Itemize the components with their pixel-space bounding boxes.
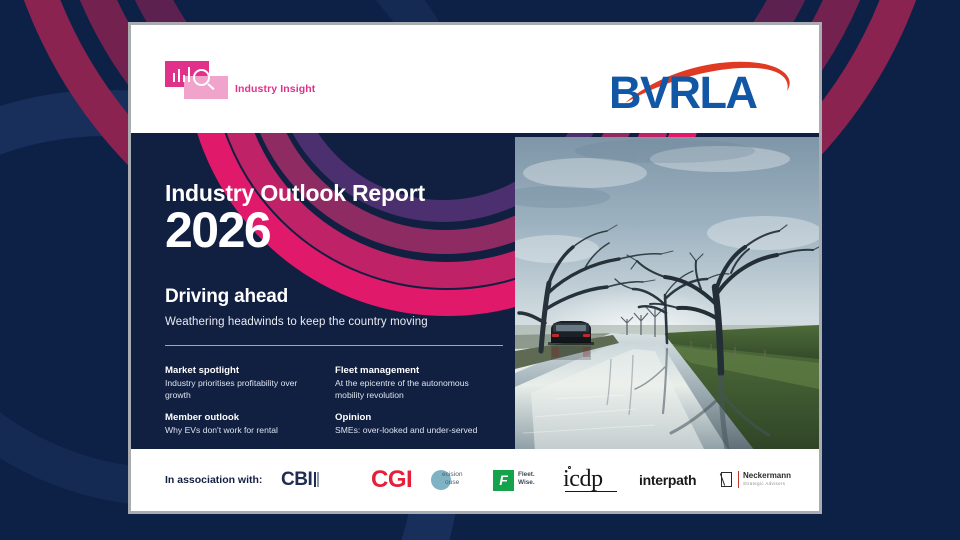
topic-body: SMEs: over-looked and under-served (335, 425, 495, 437)
cbi-wordmark: CBI (281, 469, 312, 490)
cover-photograph-art (515, 137, 819, 451)
cbi-bar-icon (317, 472, 319, 487)
cover-photograph (515, 137, 819, 451)
topic-body: Why EVs don't work for rental (165, 425, 325, 437)
neckermann-divider (738, 471, 739, 488)
industry-insight-label: Industry Insight (235, 83, 315, 95)
decision-house-line1: ecision (442, 471, 463, 478)
topic-heading: Fleet management (335, 365, 495, 376)
association-label: In association with: (165, 474, 262, 486)
cgi-wordmark: CGI (371, 466, 412, 493)
interpath-wordmark: interpath (639, 472, 696, 488)
icdp-rule (565, 491, 617, 492)
hero-panel: Industry Outlook Report 2026 Driving ahe… (131, 133, 819, 455)
hero-divider (165, 345, 503, 346)
topic-opinion: Opinion SMEs: over-looked and under-serv… (335, 412, 495, 437)
icdp-wordmark: icdp (563, 466, 603, 492)
partner-logo-icdp: icdp (563, 466, 625, 494)
partner-logo-cgi: CGI (371, 468, 437, 492)
fleetwise-line2: Wise. (518, 479, 535, 486)
bvrla-wordmark: BVRLA (609, 70, 757, 115)
cbi-bar-icon (314, 472, 316, 487)
report-year: 2026 (165, 205, 270, 255)
partner-logo-interpath: interpath (639, 471, 713, 489)
fleetwise-line1: Fleet. (518, 471, 535, 478)
topic-body: Industry prioritises profitability over … (165, 378, 325, 401)
bvrla-logo: BVRLA (609, 59, 789, 119)
decision-house-line2: ouse (445, 479, 459, 486)
topic-heading: Market spotlight (165, 365, 325, 376)
car (548, 321, 594, 360)
report-subtitle: Driving ahead (165, 286, 288, 308)
topic-heading: Opinion (335, 412, 495, 423)
partner-logo-decision-house: ecision ouse (431, 466, 487, 494)
partner-logo-cbi: CBI (281, 469, 353, 491)
report-tagline: Weathering headwinds to keep the country… (165, 316, 428, 328)
topic-member-outlook: Member outlook Why EVs don't work for re… (165, 412, 325, 437)
partner-footer: In association with: CBI CGI ecision ous… (131, 449, 819, 511)
industry-insight-logo: Industry Insight (165, 61, 325, 99)
topic-heading: Member outlook (165, 412, 325, 423)
hero-copy: Industry Outlook Report 2026 Driving ahe… (165, 133, 515, 455)
partner-logo-fleetwise: F Fleet. Wise. (493, 468, 559, 492)
fleetwise-f-icon: F (493, 470, 514, 491)
topic-fleet-management: Fleet management At the epicentre of the… (335, 365, 495, 401)
neckermann-wordmark: Neckermann (743, 471, 791, 480)
partner-logo-neckermann: Neckermann Strategic Advisors (721, 469, 807, 491)
report-cover-slide: Industry Insight BVRLA (128, 22, 822, 514)
topic-body: At the epicentre of the autonomous mobil… (335, 378, 495, 401)
neckermann-tagline: Strategic Advisors (743, 481, 785, 486)
topic-market-spotlight: Market spotlight Industry prioritises pr… (165, 365, 325, 401)
slide-header: Industry Insight BVRLA (131, 25, 819, 133)
